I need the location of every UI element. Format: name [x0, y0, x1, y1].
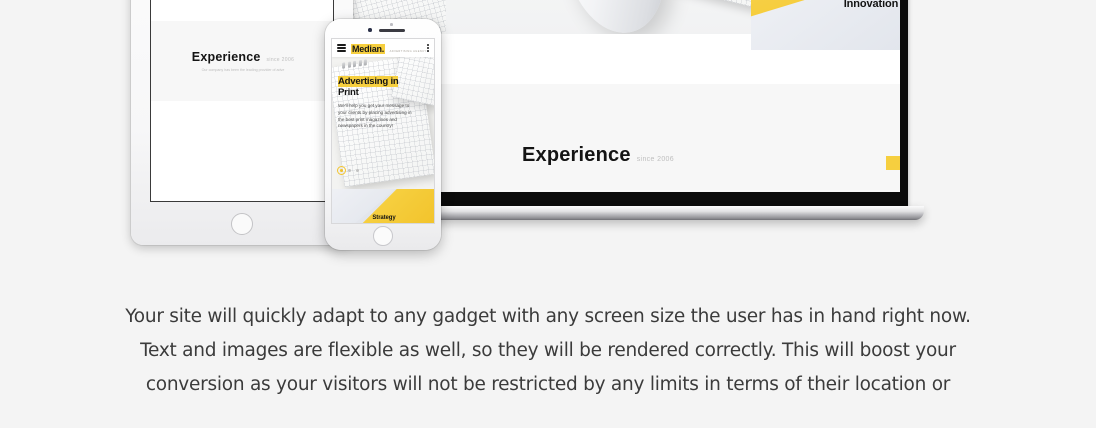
caption-line-2: Text and images are flexible as well, so…: [0, 334, 1096, 368]
tablet-site-preview: country! Strategy: [151, 0, 333, 201]
hamburger-icon[interactable]: [337, 44, 346, 51]
phone-hero: Advertising in Print We'll help you get …: [332, 57, 435, 189]
carousel-dot[interactable]: [348, 169, 351, 172]
experience-yellow-chip: [886, 156, 900, 170]
front-camera-icon: [368, 28, 372, 32]
caption-line-3: conversion as your visitors will not be …: [0, 368, 1096, 402]
experience-since: since 2006: [637, 156, 674, 163]
tablet-experience-section: Experience since 2006 Our company has be…: [151, 21, 334, 101]
phone-site-preview: Median. ADVERTISING AGENCY Ad: [332, 39, 434, 223]
tablet-white-band: [151, 0, 334, 21]
tablet-screen: country! Strategy: [150, 0, 334, 202]
computer-mouse-graphic: [549, 0, 678, 34]
carousel-dot-active[interactable]: [340, 169, 343, 172]
experience-title: Experience: [522, 144, 631, 167]
earpiece-speaker: [379, 29, 405, 32]
caption-paragraph: Your site will quickly adapt to any gadg…: [0, 300, 1096, 402]
kebab-menu-icon[interactable]: [427, 44, 429, 52]
brand-name: Median.: [351, 44, 385, 54]
phone-hero-copy: Advertising in Print We'll help you get …: [338, 77, 432, 130]
mouse-photo: [446, 0, 776, 34]
phone-hero-title-line1: Advertising in: [338, 76, 398, 87]
brand-logo[interactable]: Median. ADVERTISING AGENCY: [351, 39, 427, 57]
tablet-home-button[interactable]: [231, 213, 253, 235]
card-innovation[interactable]: Innovation: [751, 0, 900, 50]
phone-card-strategy[interactable]: Strategy: [332, 189, 435, 224]
card-label: Innovation: [844, 0, 899, 10]
device-mockup-group: ur message to your clients by placing ad…: [0, 0, 1096, 280]
laptop-feature-cards-2: Innovation: [751, 0, 900, 50]
phone-screen: Median. ADVERTISING AGENCY Ad: [331, 38, 435, 224]
carousel-dot[interactable]: [356, 169, 359, 172]
caption-line-1: Your site will quickly adapt to any gadg…: [0, 300, 1096, 334]
phone-hero-body: We'll help you get your message to your …: [338, 103, 416, 130]
experience-since: since 2006: [267, 57, 295, 63]
tablet-device: country! Strategy: [131, 0, 353, 245]
phone-home-button[interactable]: [373, 226, 393, 246]
experience-subtitle: Our company has been the leading provide…: [202, 68, 285, 72]
phone-device: Median. ADVERTISING AGENCY Ad: [325, 19, 441, 250]
phone-hero-title: Advertising in Print: [338, 77, 432, 98]
phone-carousel-dots[interactable]: [340, 169, 359, 172]
card-label: Strategy: [372, 215, 395, 221]
page-root: ur message to your clients by placing ad…: [0, 0, 1096, 428]
proximity-sensor-icon: [390, 23, 393, 26]
phone-hero-title-line2: Print: [338, 87, 359, 98]
brand-tagline: ADVERTISING AGENCY: [390, 50, 427, 53]
phone-site-header: Median. ADVERTISING AGENCY: [332, 39, 434, 57]
experience-title: Experience: [192, 50, 261, 64]
